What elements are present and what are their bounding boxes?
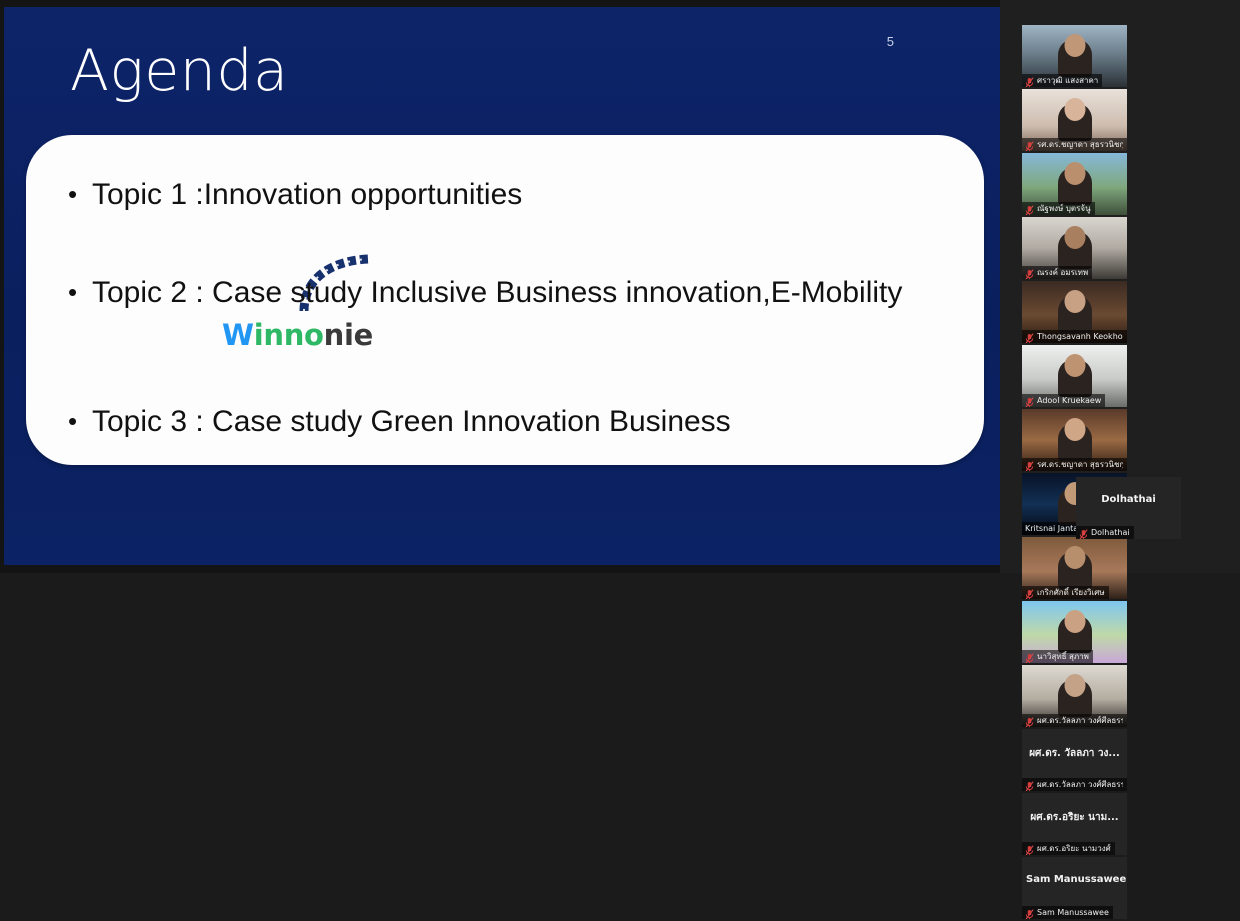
participant-name-bar: นาวิสุทธิ์ สุภาพ (1022, 650, 1093, 663)
participant-name-bar: ณัฐพงษ์ บุตรจ้นู (1022, 202, 1095, 215)
participant-name-label: Dolhathai (1091, 527, 1130, 538)
participant-face (1064, 418, 1085, 441)
microphone-muted-icon (1025, 395, 1034, 406)
participant-name-label: Thongsavanh Keokho.. (1037, 331, 1123, 342)
participant-tile[interactable]: ผศ.ดร.อริยะ นาม...ผศ.ดร.อริยะ นามวงศ์ (1022, 793, 1127, 855)
shared-screen-stage: 5 Agenda Topic 1 :Innovation opportuniti… (0, 0, 1000, 573)
agenda-bullet-list: Topic 1 :Innovation opportunities Topic … (64, 177, 966, 440)
participant-face (1064, 162, 1085, 185)
participant-name-placeholder: ผศ.ดร. วัลลภา วง... (1022, 746, 1127, 761)
participant-face (1064, 34, 1085, 57)
participant-face (1064, 354, 1085, 377)
participant-name-bar: Thongsavanh Keokho.. (1022, 330, 1127, 343)
participant-grid: ศราวุฒิ แสงสาคารศ.ดร.ชญาดา สุธรวนิชกุลณั… (1022, 25, 1235, 921)
participant-name-bar: Adool Kruekaew (1022, 394, 1105, 407)
presentation-slide: 5 Agenda Topic 1 :Innovation opportuniti… (4, 7, 1000, 565)
winnonie-logo-part-dark: nie (324, 318, 373, 352)
microphone-muted-icon (1025, 779, 1034, 790)
microphone-muted-icon (1025, 75, 1034, 86)
participant-name-label: ผศ.ดร.วัลลภา วงศ์ศีลธรรม (1037, 715, 1123, 726)
participant-tile[interactable]: นาวิสุทธิ์ สุภาพ (1022, 601, 1127, 663)
participant-face (1064, 226, 1085, 249)
agenda-bullet-2: Topic 2 : Case study Inclusive Business … (64, 275, 966, 311)
participant-name-bar: ผศ.ดร.วัลลภา วงศ์ศีลธรรม (1022, 778, 1127, 791)
microphone-muted-icon (1079, 527, 1088, 538)
participant-name-bar: รศ.ดร.ชญาดา สุธรวนิชกุล (1022, 138, 1127, 151)
participant-name-bar: ศราวุฒิ แสงสาคา (1022, 74, 1102, 87)
participant-tile[interactable]: ณรงค์ อมรเทพ (1022, 217, 1127, 279)
microphone-muted-icon (1025, 331, 1034, 342)
participant-name-bar: ณรงค์ อมรเทพ (1022, 266, 1092, 279)
microphone-muted-icon (1025, 139, 1034, 150)
participant-name-bar: Dolhathai (1076, 526, 1134, 539)
winnonie-logo-part-blue: W (222, 318, 254, 352)
participant-name-bar: ผศ.ดร.วัลลภา วงศ์ศีลธรรม (1022, 714, 1127, 727)
participant-grid-last-row: DolhathaiDolhathai (1076, 477, 1181, 539)
participant-tile[interactable]: เกริกศักดิ์ เรียงวิเศษ (1022, 537, 1127, 599)
participant-tile[interactable]: รศ.ดร.ชญาดา สุธรวนิชกุล (1022, 409, 1127, 471)
microphone-muted-icon (1025, 587, 1034, 598)
agenda-bullet-3: Topic 3 : Case study Green Innovation Bu… (64, 404, 966, 440)
participant-name-label: ผศ.ดร.อริยะ นามวงศ์ (1037, 843, 1111, 854)
participant-name-label: Adool Kruekaew (1037, 395, 1101, 406)
participant-tile[interactable]: ณัฐพงษ์ บุตรจ้นู (1022, 153, 1127, 215)
participant-tile[interactable]: ผศ.ดร.วัลลภา วงศ์ศีลธรรม (1022, 665, 1127, 727)
microphone-muted-icon (1025, 459, 1034, 470)
winnonie-logo-part-green: inno (254, 318, 324, 352)
participant-name-placeholder: Sam Manussawee (1022, 874, 1127, 885)
participant-name-label: ศราวุฒิ แสงสาคา (1037, 75, 1098, 86)
winnonie-logo: Winnonie (222, 318, 966, 352)
participant-name-label: ณัฐพงษ์ บุตรจ้นู (1037, 203, 1091, 214)
participant-name-label: รศ.ดร.ชญาดา สุธรวนิชกุล (1037, 459, 1123, 470)
participant-face (1064, 610, 1085, 633)
participant-face (1064, 674, 1085, 697)
participant-tile[interactable]: ศราวุฒิ แสงสาคา (1022, 25, 1127, 87)
microphone-muted-icon (1025, 907, 1034, 918)
participant-name-bar: Sam Manussawee (1022, 906, 1113, 919)
participant-tile[interactable]: Sam ManussaweeSam Manussawee (1022, 857, 1127, 919)
agenda-bullet-1: Topic 1 :Innovation opportunities (64, 177, 966, 213)
participant-face (1064, 546, 1085, 569)
microphone-muted-icon (1025, 267, 1034, 278)
participant-filmstrip[interactable]: ศราวุฒิ แสงสาคารศ.ดร.ชญาดา สุธรวนิชกุลณั… (1000, 0, 1240, 573)
microphone-muted-icon (1025, 651, 1034, 662)
participant-tile[interactable]: Thongsavanh Keokho.. (1022, 281, 1127, 343)
participant-name-placeholder: ผศ.ดร.อริยะ นาม... (1022, 810, 1127, 825)
participant-name-placeholder: Dolhathai (1076, 494, 1181, 505)
slide-number: 5 (887, 34, 894, 49)
participant-face (1064, 98, 1085, 121)
participant-name-bar: เกริกศักดิ์ เรียงวิเศษ (1022, 586, 1109, 599)
participant-tile[interactable]: Adool Kruekaew (1022, 345, 1127, 407)
microphone-muted-icon (1025, 715, 1034, 726)
participant-name-label: นาวิสุทธิ์ สุภาพ (1037, 651, 1089, 662)
participant-name-bar: ผศ.ดร.อริยะ นามวงศ์ (1022, 842, 1115, 855)
slide-title: Agenda (70, 39, 289, 103)
participant-tile[interactable]: ผศ.ดร. วัลลภา วง...ผศ.ดร.วัลลภา วงศ์ศีลธ… (1022, 729, 1127, 791)
microphone-muted-icon (1025, 843, 1034, 854)
participant-tile[interactable]: รศ.ดร.ชญาดา สุธรวนิชกุล (1022, 89, 1127, 151)
agenda-card: Topic 1 :Innovation opportunities Topic … (26, 135, 984, 465)
participant-name-label: ผศ.ดร.วัลลภา วงศ์ศีลธรรม (1037, 779, 1123, 790)
microphone-muted-icon (1025, 203, 1034, 214)
participant-name-label: เกริกศักดิ์ เรียงวิเศษ (1037, 587, 1105, 598)
screen-share-view: 5 Agenda Topic 1 :Innovation opportuniti… (0, 0, 1240, 573)
participant-name-label: รศ.ดร.ชญาดา สุธรวนิชกุล (1037, 139, 1123, 150)
participant-tile[interactable]: DolhathaiDolhathai (1076, 477, 1181, 539)
participant-name-label: ณรงค์ อมรเทพ (1037, 267, 1088, 278)
participant-name-bar: รศ.ดร.ชญาดา สุธรวนิชกุล (1022, 458, 1127, 471)
participant-face (1064, 290, 1085, 313)
participant-name-label: Sam Manussawee (1037, 907, 1109, 918)
